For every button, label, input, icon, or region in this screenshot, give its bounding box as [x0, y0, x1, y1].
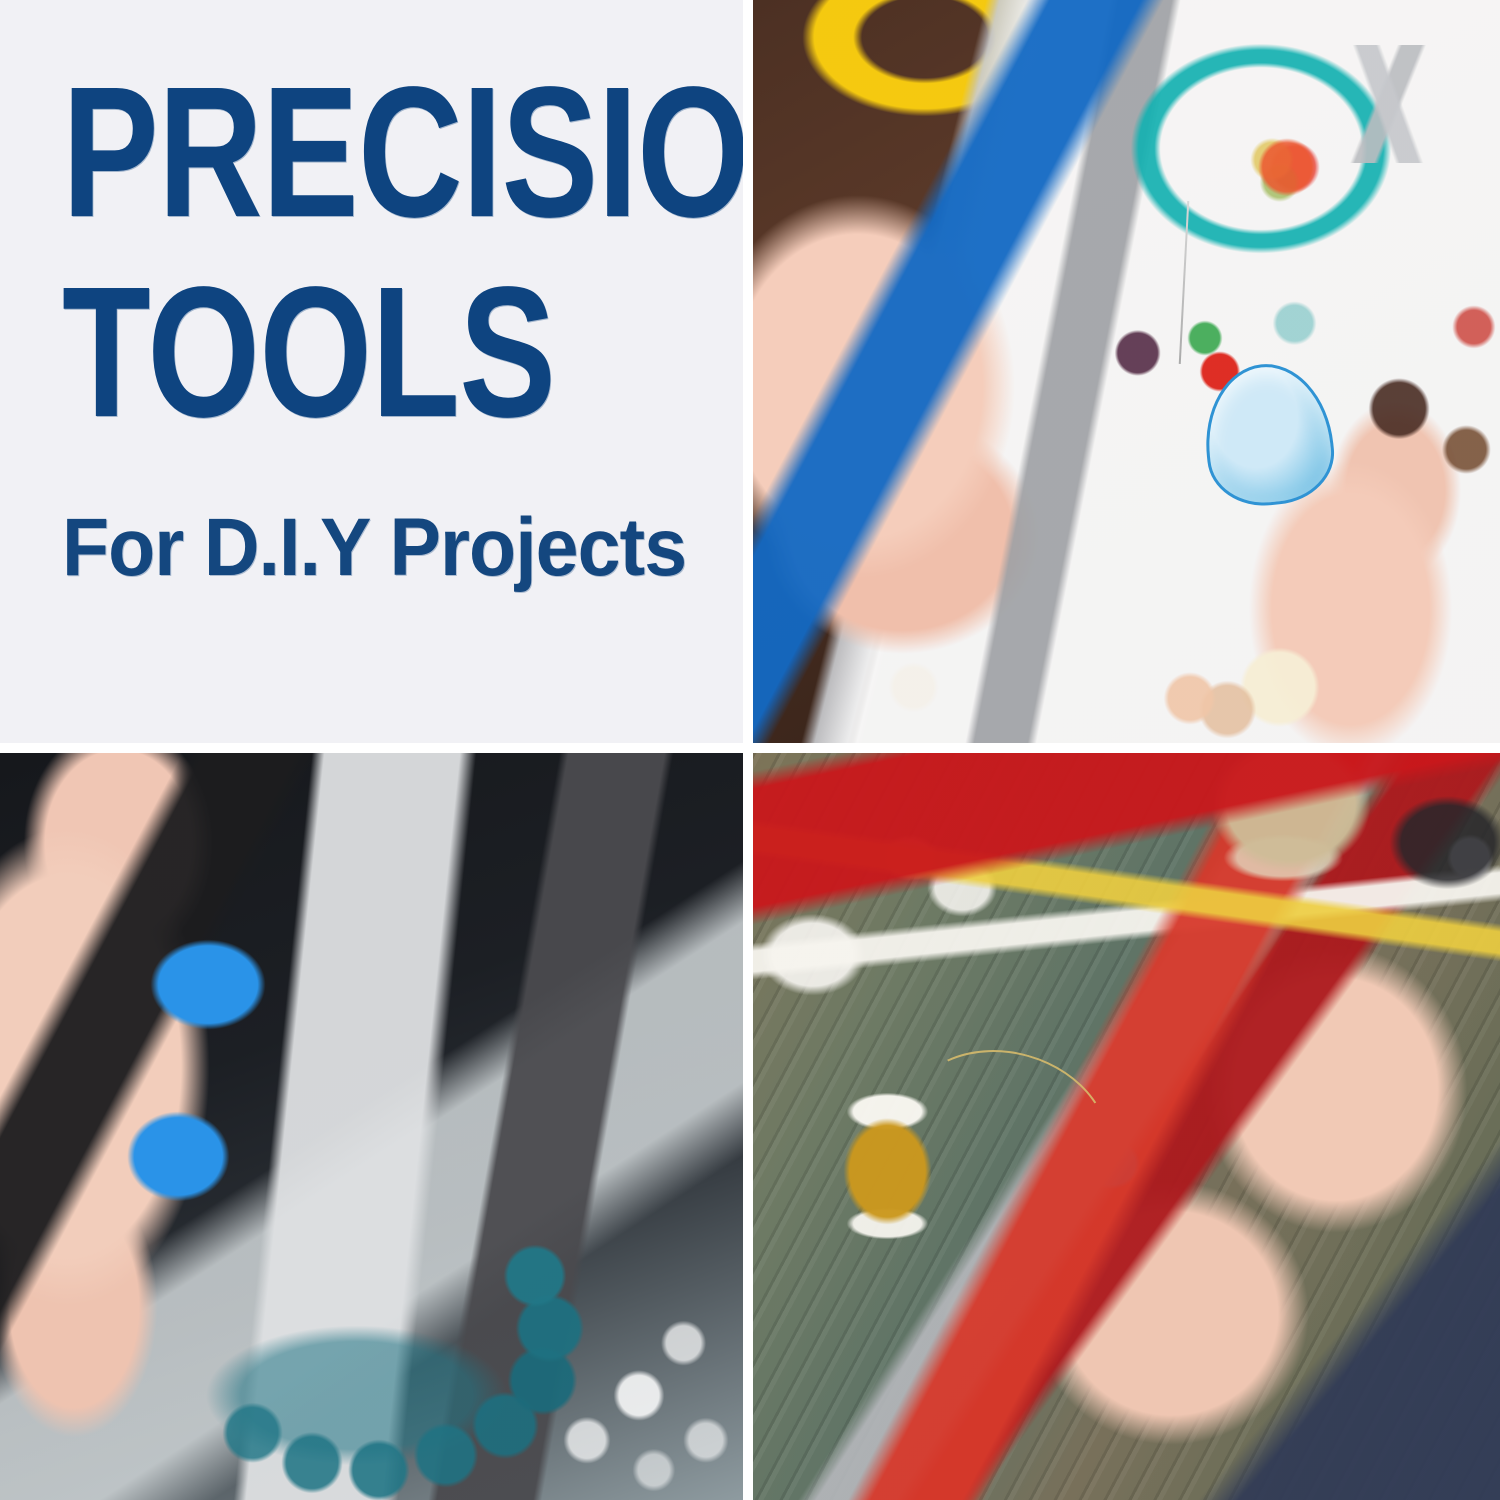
headline-line-1: PRECISION: [62, 62, 577, 244]
headline-block: PRECISION TOOLS For D.I.Y Projects: [62, 62, 722, 589]
headline-line-2: TOOLS: [62, 262, 577, 444]
product-banner: PRECISION TOOLS For D.I.Y Projects: [0, 0, 1500, 1500]
headline-panel: PRECISION TOOLS For D.I.Y Projects: [0, 0, 743, 743]
photo-wire-wrapping-image: [753, 753, 1500, 1500]
photo-jewelry-beading: [753, 0, 1500, 743]
photo-pliers-closeup: [0, 753, 743, 1500]
photo-pliers-closeup-image: [0, 753, 743, 1500]
headline-subtitle: For D.I.Y Projects: [62, 507, 682, 589]
background-pliers-icon: [1291, 45, 1485, 164]
photo-wire-wrapping: [753, 753, 1500, 1500]
